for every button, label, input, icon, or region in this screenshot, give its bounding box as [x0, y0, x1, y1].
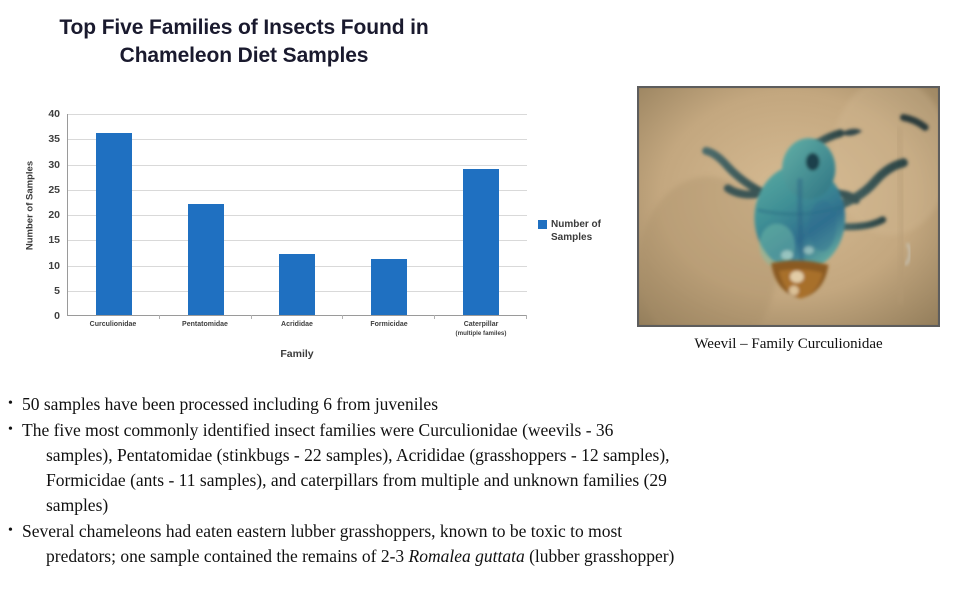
x-axis-tick-main: Curculionidae [90, 321, 137, 328]
x-axis-tick-sub: (multiple familes) [436, 329, 526, 338]
page-title-line-2: Chameleon Diet Samples [24, 42, 464, 70]
bullet-line: Several chameleons had eaten eastern lub… [22, 521, 622, 541]
page-title-line-1: Top Five Families of Insects Found in [24, 14, 464, 42]
category-tick [251, 315, 252, 319]
bar-formicidae[interactable] [371, 259, 407, 315]
bullet-text: 50 samples have been processed including… [22, 392, 946, 417]
bullet-line: samples) [22, 493, 946, 518]
chart-bars [68, 114, 527, 315]
photo-frame [637, 86, 940, 327]
x-axis-tick-main: Formicidae [370, 321, 407, 328]
bullet-line: samples), Pentatomidae (stinkbugs - 22 s… [22, 443, 946, 468]
bar-slot [343, 114, 435, 315]
y-axis-tick-40: 40 [48, 108, 60, 120]
bullet-line-prefix: predators; one sample contained the rema… [46, 546, 409, 566]
legend-color-swatch [538, 220, 547, 229]
bullet-line: 50 samples have been processed including… [22, 394, 438, 414]
x-axis-tick-main: Acrididae [281, 321, 313, 328]
scientific-name: Romalea guttata [409, 546, 525, 566]
bullet-marker-icon: • [8, 518, 13, 543]
x-axis-tick-main: Caterpillar [464, 321, 499, 328]
y-axis-tick-0: 0 [54, 310, 60, 322]
bar-curculionidae[interactable] [96, 133, 132, 315]
chart-plot-area [67, 114, 527, 316]
bullet-line: The five most commonly identified insect… [22, 420, 613, 440]
y-axis-tick-10: 10 [48, 260, 60, 272]
x-axis-tick-labels: CurculionidaePentatomidaeAcrididaeFormic… [67, 320, 527, 338]
bar-caterpillar-multiple-families[interactable] [463, 169, 499, 315]
bar-acrididae[interactable] [279, 254, 315, 315]
bar-chart: Number of Samples 4035302520151050 Curcu… [0, 100, 630, 380]
chart-legend: Number of Samples [538, 218, 609, 244]
x-axis-tick-main: Pentatomidae [182, 321, 228, 328]
bullet-text: The five most commonly identified insect… [22, 418, 946, 518]
legend-label-line-2: Samples [551, 232, 592, 243]
y-axis-tick-35: 35 [48, 133, 60, 145]
bullet-list: •50 samples have been processed includin… [6, 392, 946, 570]
category-tick [526, 315, 527, 319]
page-title: Top Five Families of Insects Found in Ch… [24, 14, 464, 70]
category-tick [342, 315, 343, 319]
y-axis-tick-15: 15 [48, 234, 60, 246]
bar-pentatomidae[interactable] [188, 204, 224, 315]
x-axis-tick-label: Formicidae [343, 320, 435, 338]
bullet-line: predators; one sample contained the rema… [22, 544, 946, 569]
bar-slot [160, 114, 252, 315]
weevil-photograph [639, 88, 938, 325]
y-axis-tick-20: 20 [48, 209, 60, 221]
weevil-figure: Weevil – Family Curculionidae [637, 86, 940, 327]
bullet-line-suffix: (lubber grasshopper) [525, 546, 675, 566]
bullet-marker-icon: • [8, 417, 13, 442]
bullet-five-most-common: •The five most commonly identified insec… [6, 418, 946, 518]
y-axis-tick-25: 25 [48, 184, 60, 196]
x-axis-tick-label: Acrididae [251, 320, 343, 338]
bar-slot [68, 114, 160, 315]
bullet-lubber-grasshoppers: •Several chameleons had eaten eastern lu… [6, 519, 946, 569]
x-axis-tick-label: Pentatomidae [159, 320, 251, 338]
photo-caption: Weevil – Family Curculionidae [637, 336, 940, 353]
bar-slot [435, 114, 527, 315]
x-axis-tick-label: Curculionidae [67, 320, 159, 338]
legend-entry-label: Number of Samples [551, 218, 609, 244]
bullet-samples-processed: •50 samples have been processed includin… [6, 392, 946, 417]
bullet-text: Several chameleons had eaten eastern lub… [22, 519, 946, 569]
x-axis-tick-label: Caterpillar(multiple familes) [435, 320, 527, 338]
legend-label-line-1: Number of [551, 219, 601, 230]
bar-slot [252, 114, 344, 315]
category-tick [434, 315, 435, 319]
category-tick [159, 315, 160, 319]
y-axis-tick-5: 5 [54, 285, 60, 297]
bullet-line: Formicidae (ants - 11 samples), and cate… [22, 468, 946, 493]
y-axis-tick-30: 30 [48, 159, 60, 171]
x-axis-title: Family [67, 348, 527, 360]
bullet-marker-icon: • [8, 391, 13, 416]
y-axis-tick-labels: 4035302520151050 [30, 114, 60, 316]
